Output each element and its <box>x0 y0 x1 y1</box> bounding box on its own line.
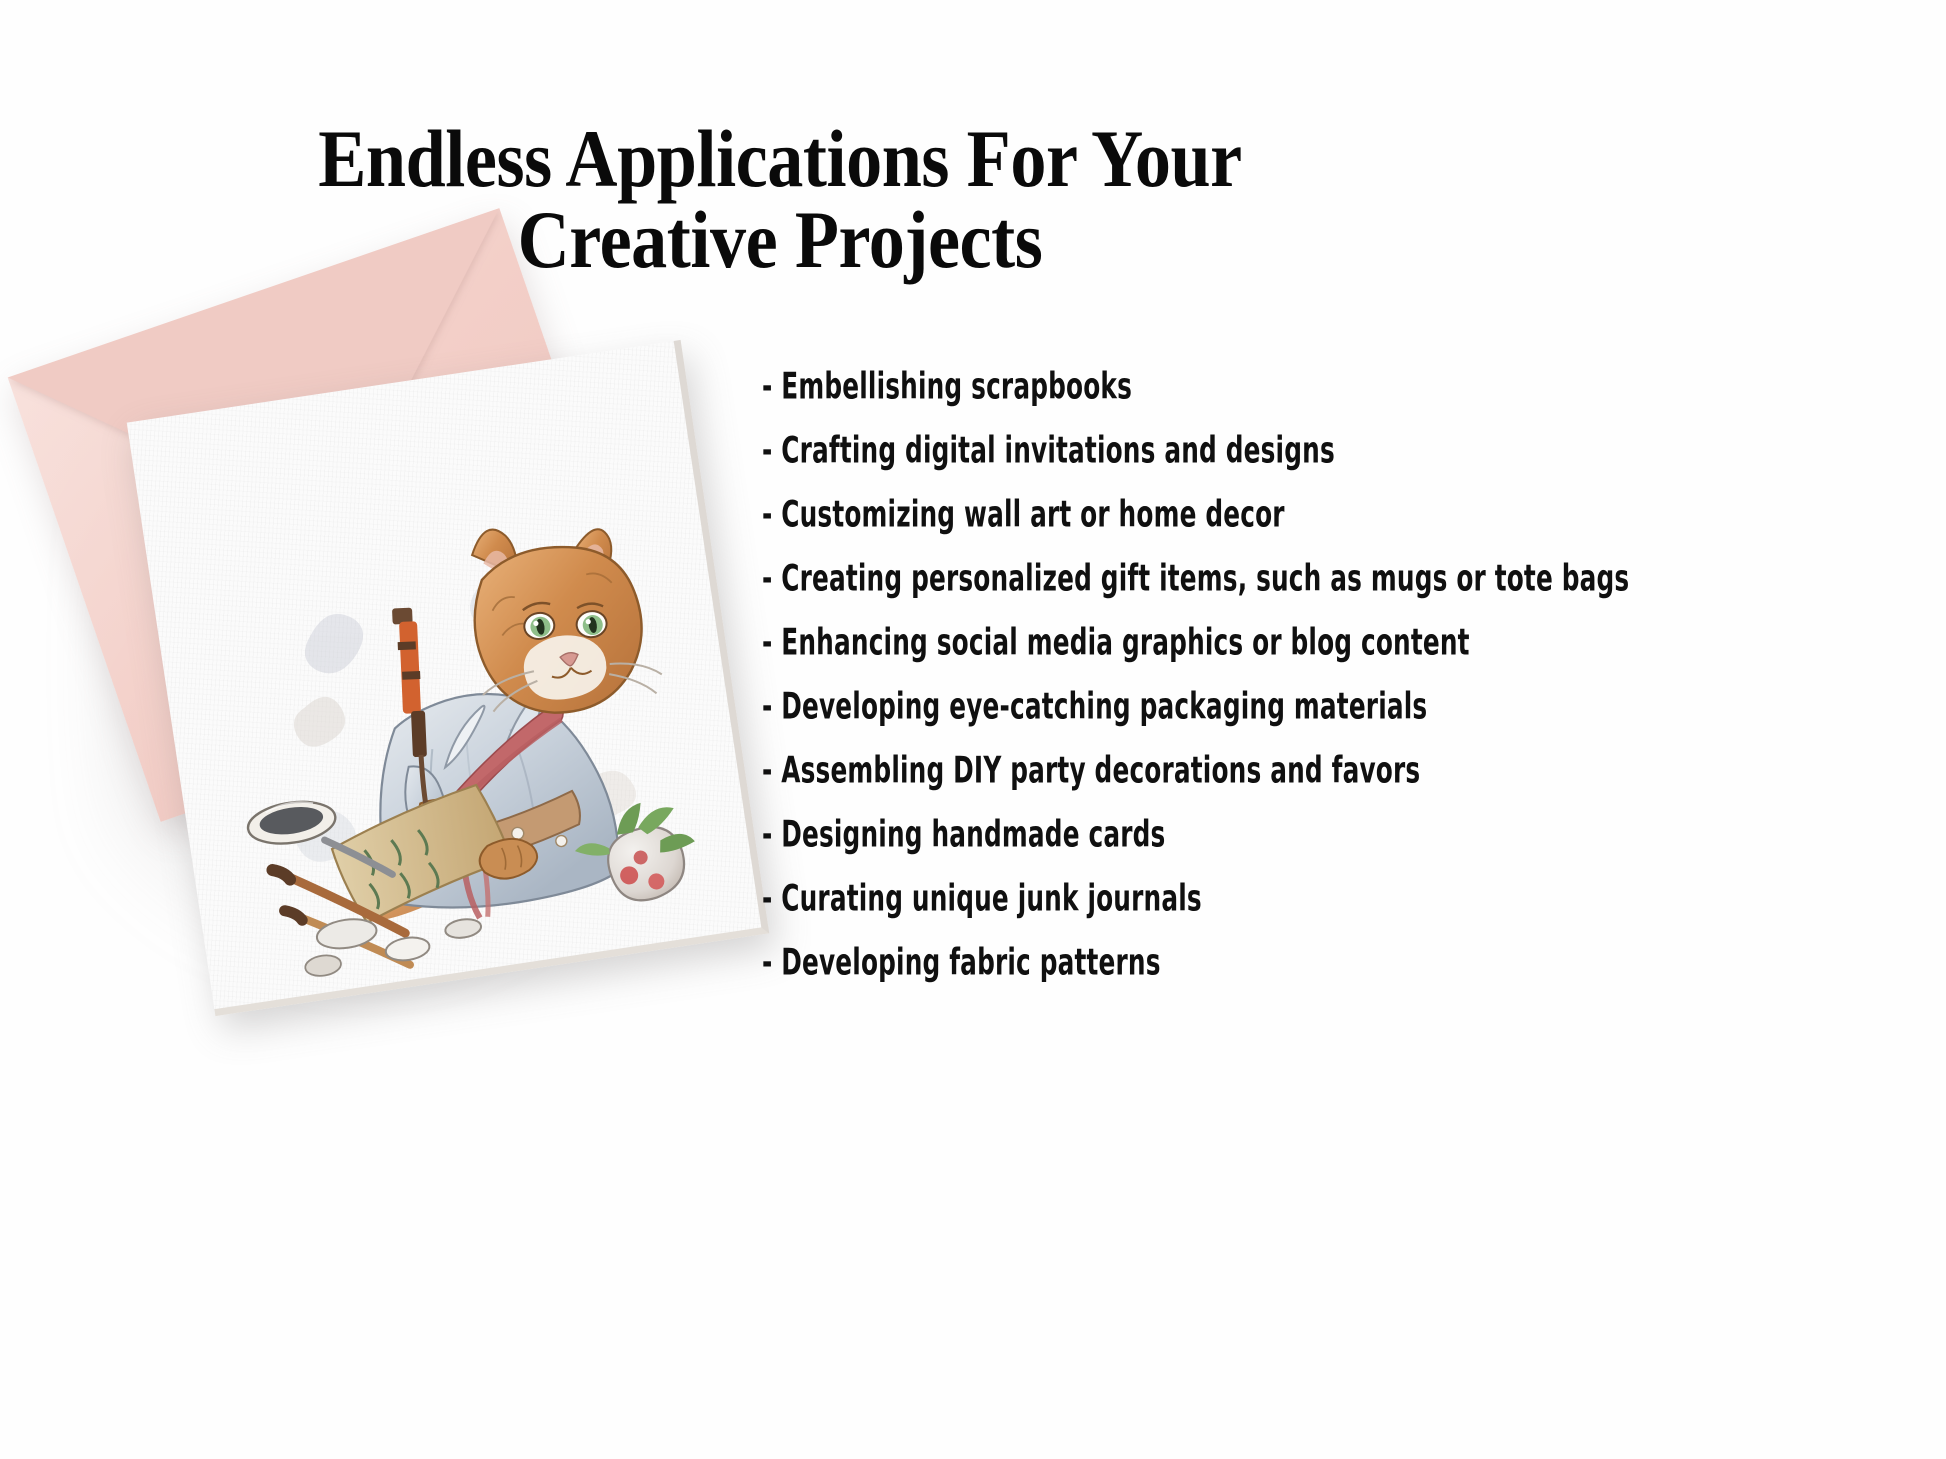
page-title-line-1: Endless Applications For Your <box>94 118 1467 199</box>
list-item: - Developing fabric patterns <box>762 945 1682 981</box>
watercolor-calligrapher-cat-illustration <box>166 464 730 1003</box>
list-item: - Creating personalized gift items, such… <box>762 561 1682 597</box>
poster-canvas: Endless Applications For Your Creative P… <box>0 0 1946 1459</box>
applications-list: - Embellishing scrapbooks - Crafting dig… <box>762 372 1912 1012</box>
list-item: - Embellishing scrapbooks <box>762 369 1682 405</box>
list-item: - Crafting digital invitations and desig… <box>762 433 1682 469</box>
list-item: - Curating unique junk journals <box>762 881 1682 917</box>
page-title-line-2: Creative Projects <box>94 199 1467 280</box>
list-item: - Designing handmade cards <box>762 817 1682 853</box>
list-item: - Assembling DIY party decorations and f… <box>762 753 1682 789</box>
list-item: - Enhancing social media graphics or blo… <box>762 625 1682 661</box>
white-greeting-card <box>127 340 770 1016</box>
artwork-composition <box>40 250 820 1110</box>
page-title: Endless Applications For Your Creative P… <box>0 118 1560 280</box>
cat-head <box>459 508 665 724</box>
cat-illustration-svg <box>166 464 730 1003</box>
list-item: - Customizing wall art or home decor <box>762 497 1682 533</box>
list-item: - Developing eye-catching packaging mate… <box>762 689 1682 725</box>
